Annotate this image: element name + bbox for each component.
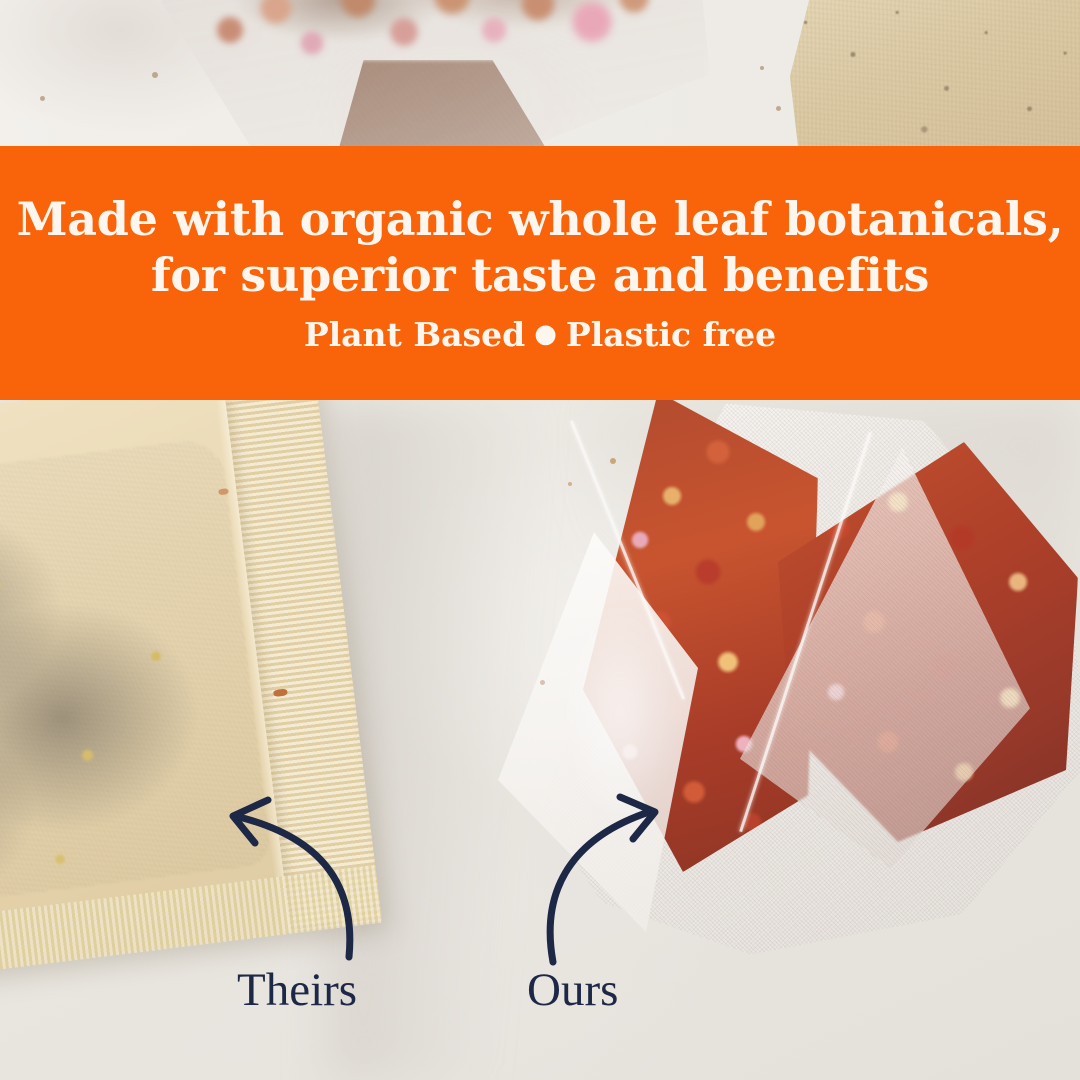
product-comparison-graphic: Made with organic whole leaf botanicals,… [0, 0, 1080, 1080]
curved-arrow-left-icon [233, 800, 350, 957]
curved-arrow-right-icon [550, 797, 655, 962]
annotation-layer [0, 0, 1080, 1080]
